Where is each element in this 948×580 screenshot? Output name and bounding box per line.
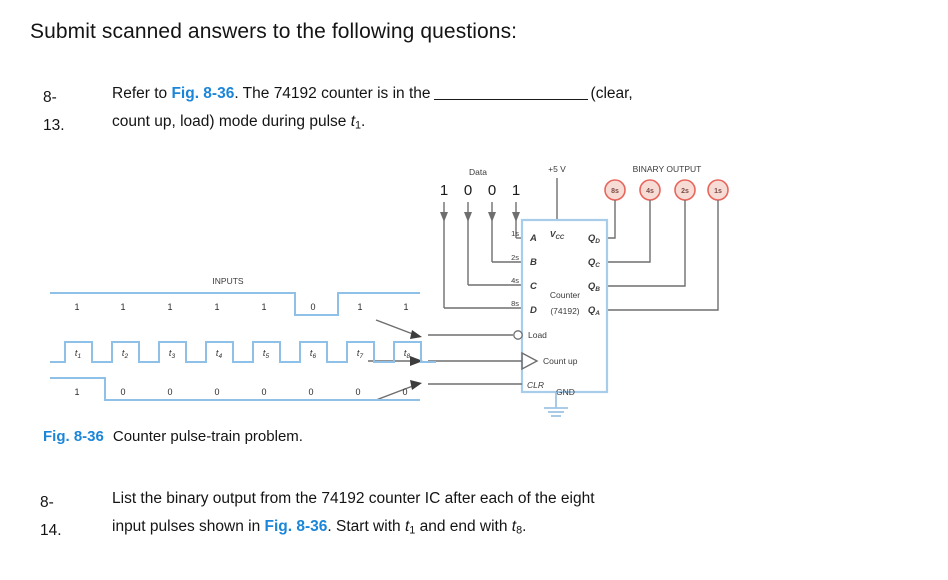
waveform-top-value-0: 1 [74, 302, 79, 312]
problem-8-13-text-c: (clear, [591, 85, 633, 102]
waveform-bottom-value-7: 0 [402, 387, 407, 397]
waveform-top-value-4: 1 [261, 302, 266, 312]
load-inversion-bubble [514, 331, 522, 339]
waveform-bottom-value-5: 0 [308, 387, 313, 397]
waveform-top-value-6: 1 [357, 302, 362, 312]
problem-8-14-number: 8-14. [40, 489, 62, 545]
worksheet-page: Submit scanned answers to the following … [0, 0, 948, 580]
ic-load-label: Load [528, 330, 547, 340]
weight-label-8s: 8s [511, 299, 519, 308]
svg-text:2s: 2s [681, 188, 689, 195]
ic-pin-A: A [529, 233, 537, 244]
ic-pin-C: C [530, 281, 537, 292]
waveform-top-value-1: 1 [120, 302, 125, 312]
ic-name-line-2: (74192) [550, 306, 579, 316]
supply-label: +5 V [548, 164, 566, 174]
waveform-bottom-value-1: 0 [120, 387, 125, 397]
problem-8-14-text-d: . [522, 518, 526, 535]
ic-count-up-label: Count up [543, 356, 578, 366]
problem-8-14-text-c: and end with [415, 518, 512, 535]
data-bit-2: 0 [488, 182, 496, 199]
svg-text:4s: 4s [646, 188, 654, 195]
waveform-bottom-value-4: 0 [261, 387, 266, 397]
binary-output-label: BINARY OUTPUT [633, 164, 702, 174]
output-wires [607, 200, 718, 310]
waveform-bottom: 1 0 0 0 0 0 0 0 [50, 378, 420, 400]
problem-8-14-text-b: . Start with [327, 518, 405, 535]
ic-pin-B: B [530, 257, 537, 268]
waveform-top-value-7: 1 [403, 302, 408, 312]
waveform-clock-label-7: t8 [404, 348, 411, 360]
waveform-bottom-value-6: 0 [355, 387, 360, 397]
output-circle-1s: 1s [708, 180, 728, 200]
figure-caption: Fig. 8-36Counter pulse-train problem. [43, 428, 303, 445]
figure-caption-ref: Fig. 8-36 [43, 428, 104, 445]
waveform-to-clr-arrow [376, 380, 422, 400]
data-input-wires [440, 202, 520, 308]
problem-8-13-line-2: count up, load) mode during pulse t1. [112, 108, 633, 140]
problem-8-14-body: List the binary output from the 74192 co… [112, 485, 595, 545]
waveform-clock-label-6: t7 [357, 348, 364, 360]
waveform-clock-label-3: t4 [216, 348, 223, 360]
inputs-label: INPUTS [212, 276, 244, 286]
waveform-top-value-5: 0 [310, 302, 315, 312]
output-circle-2s: 2s [675, 180, 695, 200]
ic-gnd-label: GND [556, 387, 575, 397]
data-bit-1: 0 [464, 182, 472, 199]
problem-8-13-text-e: . [361, 113, 365, 130]
problem-8-13-text-d: count up, load) mode during pulse [112, 113, 351, 130]
weight-label-4s: 4s [511, 276, 519, 285]
data-label: Data [469, 167, 487, 177]
figure-caption-text: Counter pulse-train problem. [113, 428, 303, 445]
problem-8-14-line-1: List the binary output from the 74192 co… [112, 485, 595, 513]
waveform-clock-label-5: t6 [310, 348, 317, 360]
fig-reference-link-2[interactable]: Fig. 8-36 [265, 518, 328, 535]
ic-clr-label: CLR [527, 380, 544, 390]
problem-8-13-line-1: Refer to Fig. 8-36. The 74192 counter is… [112, 80, 633, 108]
page-title: Submit scanned answers to the following … [30, 20, 517, 44]
ic-pin-D: D [530, 305, 537, 316]
waveform-top-value-2: 1 [167, 302, 172, 312]
weight-label-1s: 1s [511, 229, 519, 238]
data-bus-runs [444, 238, 522, 308]
weight-label-2s: 2s [511, 253, 519, 262]
problem-8-13-body: Refer to Fig. 8-36. The 74192 counter is… [112, 80, 633, 140]
waveform-bottom-value-0: 1 [74, 387, 79, 397]
data-bit-0: 1 [440, 182, 448, 199]
svg-text:8s: 8s [611, 188, 619, 195]
fig-reference-link[interactable]: Fig. 8-36 [171, 85, 234, 102]
waveform-clock-label-4: t5 [263, 348, 270, 360]
output-circle-4s: 4s [640, 180, 660, 200]
problem-8-13-text-a: Refer to [112, 85, 171, 102]
problem-8-14-line-2: input pulses shown in Fig. 8-36. Start w… [112, 513, 595, 545]
output-circle-8s: 8s [605, 180, 625, 200]
waveform-clock: t1 t2 t3 t4 t5 t6 t7 t8 [50, 342, 436, 362]
waveform-top-value-3: 1 [214, 302, 219, 312]
figure-8-36: Data 1 0 0 1 [0, 150, 948, 420]
waveform-clock-label-2: t3 [169, 348, 176, 360]
ic-name-line-1: Counter [550, 290, 580, 300]
problem-8-13-text-b: . The 74192 counter is in the [234, 85, 430, 102]
waveform-bottom-value-3: 0 [214, 387, 219, 397]
waveform-bottom-value-2: 0 [167, 387, 172, 397]
problem-8-13-number: 8-13. [43, 84, 65, 140]
data-bit-3: 1 [512, 182, 520, 199]
waveform-to-load-arrow [376, 320, 422, 339]
svg-text:1s: 1s [714, 188, 722, 195]
waveform-clock-label-0: t1 [75, 348, 82, 360]
waveform-clock-label-1: t2 [122, 348, 129, 360]
waveform-top: 1 1 1 1 1 0 1 1 [50, 293, 420, 315]
answer-blank[interactable] [434, 85, 588, 100]
problem-8-14-text-a: input pulses shown in [112, 518, 265, 535]
